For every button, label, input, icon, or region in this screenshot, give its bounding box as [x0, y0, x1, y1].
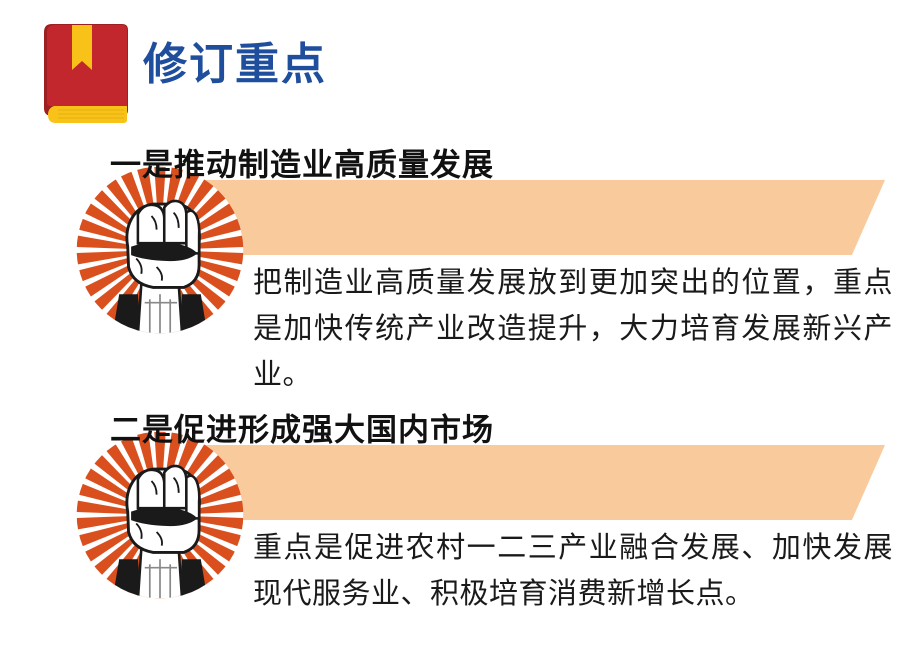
raised-fist-icon: [75, 165, 245, 335]
section-banner: [150, 180, 885, 255]
section-body: 把制造业高质量发展放到更加突出的位置，重点是加快传统产业改造提升，大力培育发展新…: [253, 261, 893, 398]
page-title: 修订重点: [143, 43, 327, 87]
section-heading: 二是促进形成强大国内市场: [110, 415, 494, 446]
section-banner: [150, 445, 885, 520]
page-header: 修订重点: [0, 0, 900, 150]
raised-fist-icon: [75, 430, 245, 600]
book-icon: [38, 22, 130, 126]
section-heading: 一是推动制造业高质量发展: [110, 150, 494, 181]
section-body: 重点是促进农村一二三产业融合发展、加快发展现代服务业、积极培育消费新增长点。: [253, 526, 893, 618]
